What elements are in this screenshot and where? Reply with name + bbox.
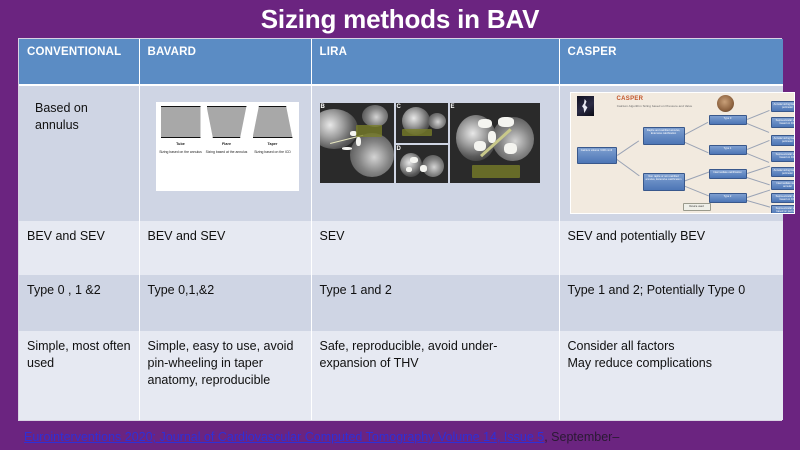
shape-tube: Tube Sizing based on the annulus <box>159 106 203 155</box>
cell-bavard-device: BEV and SEV <box>139 221 311 275</box>
ct-panel-b: B <box>320 103 394 183</box>
casper-diagram-subtitle: Calcium Algorithm Sizing based on Pressu… <box>595 104 715 108</box>
shape-description: Sizing based on the ICD <box>251 149 295 155</box>
sizing-methods-table-container: CONVENTIONAL BAVARD LIRA CASPER Based on… <box>18 38 782 421</box>
panel-label: C <box>397 103 401 111</box>
cell-casper-notes: Consider all factors May reduce complica… <box>559 331 783 420</box>
cell-text: Type 1 and 2; Potentially Type 0 <box>568 282 776 299</box>
citation-footer: Eurointerventions 2020; Journal of Cardi… <box>24 428 794 446</box>
casper-leaf-0: Annular sizing based on perimeter <box>771 101 795 112</box>
cell-text: Safe, reproducible, avoid under-expansio… <box>320 338 551 372</box>
column-header-casper: CASPER <box>559 39 783 85</box>
casper-logo-icon <box>577 96 594 116</box>
cell-conventional-basis: Based on annulus <box>19 85 139 221</box>
table-row: Based on annulus Tube Sizing based on th… <box>19 85 783 221</box>
casper-leaf-5: Intermediate supra-annular <box>771 180 795 190</box>
table-header-row: CONVENTIONAL BAVARD LIRA CASPER <box>19 39 783 85</box>
cell-lira-notes: Safe, reproducible, avoid under-expansio… <box>311 331 559 420</box>
cell-text: Type 0,1,&2 <box>148 282 303 299</box>
cell-conventional-device: BEV and SEV <box>19 221 139 275</box>
casper-diagram: CASPER Calcium Algorithm Sizing based on… <box>570 92 795 214</box>
shape-description: Sizing based at the annulus <box>205 149 249 155</box>
table-row: BEV and SEV BEV and SEV SEV SEV and pote… <box>19 221 783 275</box>
ct-panel-d: D <box>396 145 448 183</box>
cell-text: SEV <box>320 228 551 245</box>
column-header-conventional: CONVENTIONAL <box>19 39 139 85</box>
table-row: Simple, most often used Simple, easy to … <box>19 331 783 420</box>
cell-lira-figure: B C <box>311 85 559 221</box>
casper-node-level2-1: Non raphe or non calcified annulus, Exte… <box>643 173 685 191</box>
cell-text: Based on annulus <box>27 93 131 141</box>
citation-link-journal[interactable]: Eurointerventions 2020; Journal of Cardi… <box>24 430 438 444</box>
panel-label: D <box>397 145 401 153</box>
cell-text: Simple, most often used <box>27 338 131 372</box>
table-row: Type 0 , 1 &2 Type 0,1,&2 Type 1 and 2 T… <box>19 275 783 331</box>
casper-side-note: Device used <box>683 203 711 211</box>
cell-lira-device: SEV <box>311 221 559 275</box>
cell-conventional-notes: Simple, most often used <box>19 331 139 420</box>
ct-panel-e: E <box>450 103 540 183</box>
ct-panel-c: C <box>396 103 448 143</box>
bavard-shapes-figure: Tube Sizing based on the annulus Flare S… <box>156 102 299 191</box>
cell-text: Simple, easy to use, avoid pin-wheeling … <box>148 338 303 389</box>
cell-bavard-notes: Simple, easy to use, avoid pin-wheeling … <box>139 331 311 420</box>
cell-conventional-type: Type 0 , 1 &2 <box>19 275 139 331</box>
cell-casper-type: Type 1 and 2; Potentially Type 0 <box>559 275 783 331</box>
casper-leaf-7: Supra-annular sizing based on perimeter <box>771 205 795 214</box>
casper-node-root: Calcium volume >600 mm3 <box>577 147 617 164</box>
shape-flare: Flare Sizing based at the annulus <box>205 106 249 155</box>
column-header-lira: LIRA <box>311 39 559 85</box>
casper-node-level3-0: Type 0 <box>709 115 747 125</box>
casper-leaf-3: Supra-annular sizing based on ICD <box>771 151 795 162</box>
cell-bavard-figure: Tube Sizing based on the annulus Flare S… <box>139 85 311 221</box>
cell-casper-device: SEV and potentially BEV <box>559 221 783 275</box>
casper-node-level2-0: Raphe and calcified annulus, Extensive c… <box>643 127 685 145</box>
sizing-methods-table: CONVENTIONAL BAVARD LIRA CASPER Based on… <box>19 39 783 420</box>
cell-text: Consider all factors May reduce complica… <box>568 338 776 372</box>
casper-leaf-4: Annular sizing based on perimeter <box>771 167 795 177</box>
shape-description: Sizing based on the annulus <box>159 149 203 155</box>
tube-shape-icon <box>161 106 201 138</box>
shape-taper: Taper Sizing based on the ICD <box>251 106 295 155</box>
casper-leaf-2: Annular sizing based on perimeter <box>771 135 795 146</box>
casper-diagram-title: CASPER <box>617 96 644 102</box>
panel-label: E <box>451 103 455 111</box>
cell-text: Type 1 and 2 <box>320 282 551 299</box>
cell-casper-figure: CASPER Calcium Algorithm Sizing based on… <box>559 85 783 221</box>
cell-text: BEV and SEV <box>27 228 131 245</box>
shape-label: Tube <box>159 141 203 147</box>
flare-shape-icon <box>207 106 247 138</box>
cell-bavard-type: Type 0,1,&2 <box>139 275 311 331</box>
citation-link-volume[interactable]: Volume 14, Issue 5 <box>438 430 544 444</box>
taper-shape-icon <box>253 106 293 138</box>
page-title: Sizing methods in BAV <box>0 2 800 36</box>
cell-text: Type 0 , 1 &2 <box>27 282 131 299</box>
lira-ct-figure: B C <box>320 99 552 195</box>
citation-trailing-text: , September– <box>544 430 619 444</box>
shape-label: Taper <box>251 141 295 147</box>
casper-leaf-1: Supra-annular sizing based on ICD <box>771 117 795 128</box>
casper-node-level3-3: Type 2 <box>709 193 747 203</box>
cell-text: BEV and SEV <box>148 228 303 245</box>
cell-text: SEV and potentially BEV <box>568 228 776 245</box>
casper-leaf-6: Supra-annular sizing based on ICD <box>771 193 795 203</box>
casper-node-level3-1: Type 1 <box>709 145 747 155</box>
shape-label: Flare <box>205 141 249 147</box>
cell-lira-type: Type 1 and 2 <box>311 275 559 331</box>
column-header-bavard: BAVARD <box>139 39 311 85</box>
casper-node-level3-2: Intermediate calcification <box>709 169 747 179</box>
casper-portrait-avatar <box>717 95 734 112</box>
